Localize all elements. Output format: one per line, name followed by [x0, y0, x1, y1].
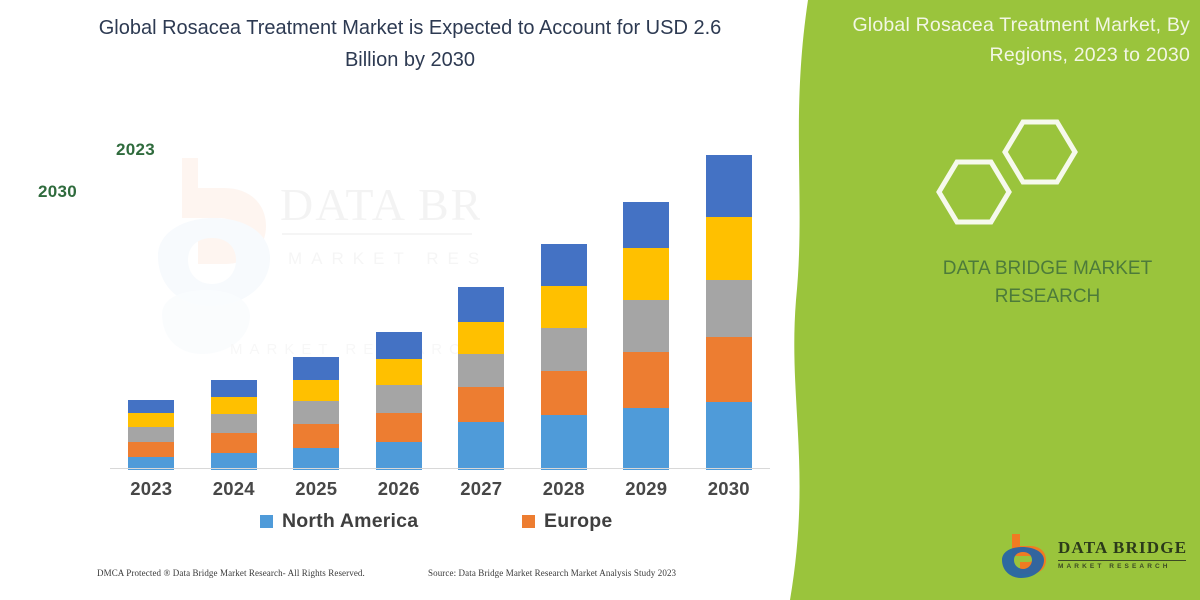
legend-item-europe[interactable]: Europe	[522, 510, 612, 533]
bar-segment-north-america-2029[interactable]	[623, 408, 669, 470]
bar-segment-series-5-2029[interactable]	[623, 202, 669, 248]
bar-column-2028[interactable]	[541, 244, 587, 470]
x-axis-label-2023: 2023	[113, 478, 189, 500]
x-axis-label-2024: 2024	[196, 478, 272, 500]
bar-segment-series-5-2025[interactable]	[293, 357, 339, 380]
x-axis-label-2028: 2028	[526, 478, 602, 500]
chart-title: Global Rosacea Treatment Market is Expec…	[90, 12, 730, 76]
x-axis-label-2026: 2026	[361, 478, 437, 500]
bar-segment-series-4-2029[interactable]	[623, 248, 669, 300]
legend-swatch-icon	[260, 515, 273, 528]
bar-segment-north-america-2030[interactable]	[706, 402, 752, 470]
data-bridge-logo: DATA BRIDGE MARKET RESEARCH	[1000, 530, 1190, 588]
bar-segment-europe-2028[interactable]	[541, 371, 587, 415]
bar-segment-series-5-2024[interactable]	[211, 380, 257, 397]
bar-segment-series-5-2027[interactable]	[458, 287, 504, 322]
bar-segment-north-america-2026[interactable]	[376, 442, 422, 470]
bar-segment-series-4-2023[interactable]	[128, 413, 174, 427]
logo-text-block: DATA BRIDGE MARKET RESEARCH	[1058, 538, 1187, 570]
logo-subtitle: MARKET RESEARCH	[1058, 563, 1187, 570]
bar-segment-series-5-2023[interactable]	[128, 400, 174, 413]
bar-segment-north-america-2027[interactable]	[458, 422, 504, 470]
panel-title: Global Rosacea Treatment Market, By Regi…	[828, 10, 1190, 70]
bar-column-2025[interactable]	[293, 357, 339, 470]
bar-column-2023[interactable]	[128, 400, 174, 470]
infographic-canvas: Global Rosacea Treatment Market, By Regi…	[0, 0, 1200, 600]
panel-brand-text: DATA BRIDGE MARKET RESEARCH	[905, 255, 1190, 311]
bar-segment-series-5-2026[interactable]	[376, 332, 422, 359]
logo-divider	[1058, 560, 1186, 561]
x-axis-line	[110, 468, 770, 469]
bar-segment-europe-2027[interactable]	[458, 387, 504, 422]
bar-segment-series-5-2028[interactable]	[541, 244, 587, 286]
legend-label: North America	[282, 510, 418, 533]
bar-segment-north-america-2028[interactable]	[541, 415, 587, 470]
bar-column-2026[interactable]	[376, 332, 422, 470]
hexagon-2030-label: 2030	[38, 182, 77, 202]
bar-segment-series-3-2026[interactable]	[376, 385, 422, 413]
bar-segment-series-3-2024[interactable]	[211, 414, 257, 433]
bar-segment-series-4-2025[interactable]	[293, 380, 339, 401]
bar-segment-europe-2023[interactable]	[128, 442, 174, 457]
x-axis-label-2030: 2030	[691, 478, 767, 500]
chart-legend: North AmericaEurope	[110, 510, 770, 544]
bar-segment-series-4-2030[interactable]	[706, 217, 752, 280]
bar-column-2029[interactable]	[623, 202, 669, 470]
footer-source: Source: Data Bridge Market Research Mark…	[428, 568, 676, 586]
hexagon-group	[915, 118, 1115, 228]
bar-column-2030[interactable]	[706, 155, 752, 470]
bar-segment-europe-2030[interactable]	[706, 337, 752, 402]
bar-segment-series-3-2027[interactable]	[458, 354, 504, 387]
bar-segment-series-3-2023[interactable]	[128, 427, 174, 442]
bar-segment-series-3-2025[interactable]	[293, 401, 339, 424]
bar-segment-series-4-2027[interactable]	[458, 322, 504, 354]
hexagon-2030-shape	[939, 162, 1009, 222]
bar-segment-series-4-2024[interactable]	[211, 397, 257, 414]
logo-mark-icon	[1000, 530, 1056, 582]
bar-column-2027[interactable]	[458, 287, 504, 470]
bar-segment-series-4-2026[interactable]	[376, 359, 422, 385]
x-axis-label-2027: 2027	[443, 478, 519, 500]
bar-segment-series-3-2029[interactable]	[623, 300, 669, 352]
bar-segment-series-3-2030[interactable]	[706, 280, 752, 337]
x-axis-label-2025: 2025	[278, 478, 354, 500]
bar-segment-north-america-2025[interactable]	[293, 448, 339, 470]
x-axis-label-2029: 2029	[608, 478, 684, 500]
x-axis-labels: 20232024202520262027202820292030	[110, 478, 770, 506]
bar-segment-series-3-2028[interactable]	[541, 328, 587, 371]
bar-segment-series-5-2030[interactable]	[706, 155, 752, 217]
chart-plot-area	[110, 140, 770, 470]
bar-segment-europe-2024[interactable]	[211, 433, 257, 453]
bar-column-2024[interactable]	[211, 380, 257, 470]
legend-item-north-america[interactable]: North America	[260, 510, 418, 533]
logo-title: DATA BRIDGE	[1058, 538, 1187, 558]
hexagon-2023-shape	[1005, 122, 1075, 182]
bar-segment-europe-2029[interactable]	[623, 352, 669, 408]
bar-segment-europe-2026[interactable]	[376, 413, 422, 442]
legend-label: Europe	[544, 510, 612, 533]
legend-swatch-icon	[522, 515, 535, 528]
bar-segment-series-4-2028[interactable]	[541, 286, 587, 328]
footer-copyright: DMCA Protected ® Data Bridge Market Rese…	[97, 568, 365, 586]
bar-segment-europe-2025[interactable]	[293, 424, 339, 448]
